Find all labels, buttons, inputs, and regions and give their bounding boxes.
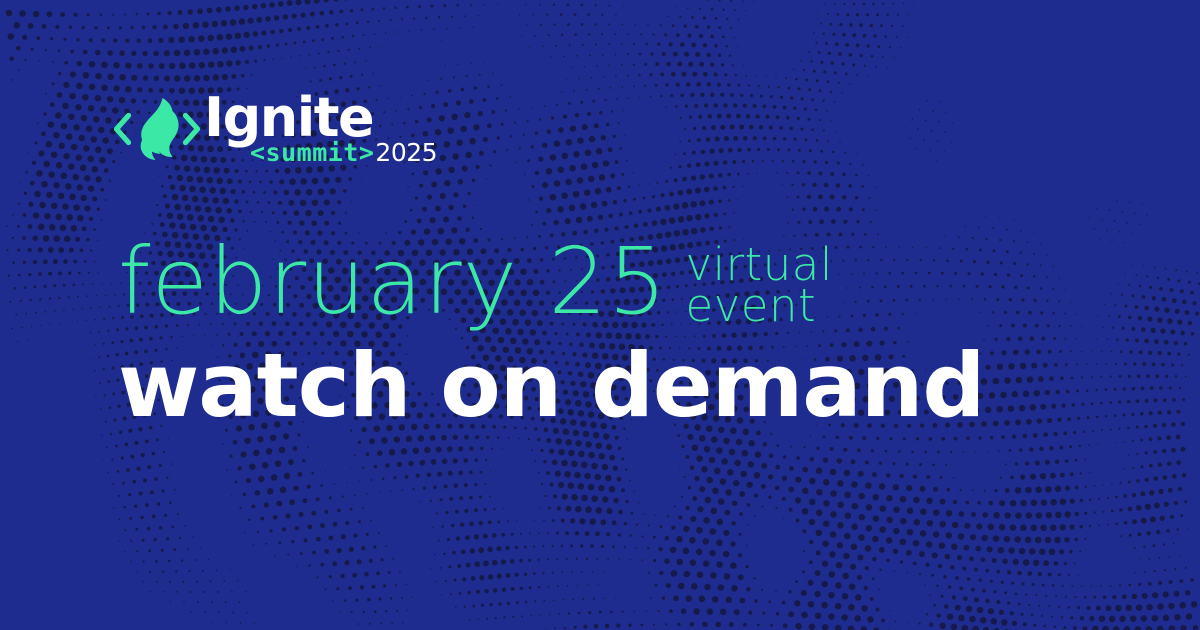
date-and-format-row: february 25 virtual event [118, 238, 984, 334]
cta-headline: watch on demand [118, 342, 984, 430]
headline-block: february 25 virtual event watch on deman… [118, 238, 984, 430]
ignite-flame-bracket-icon [114, 95, 200, 163]
logo-wordmark-ignite: Ignite [204, 92, 437, 143]
logo-summit-label: <summit> [250, 140, 374, 165]
event-format: virtual event [685, 244, 832, 327]
event-format-line-2: event [685, 285, 832, 326]
event-date: february 25 [118, 238, 667, 325]
event-promo-banner: Ignite <summit> 2025 february 25 virtual… [0, 0, 1200, 630]
ignite-summit-logo[interactable]: Ignite <summit> 2025 [114, 92, 437, 165]
logo-year-label: 2025 [375, 140, 437, 165]
